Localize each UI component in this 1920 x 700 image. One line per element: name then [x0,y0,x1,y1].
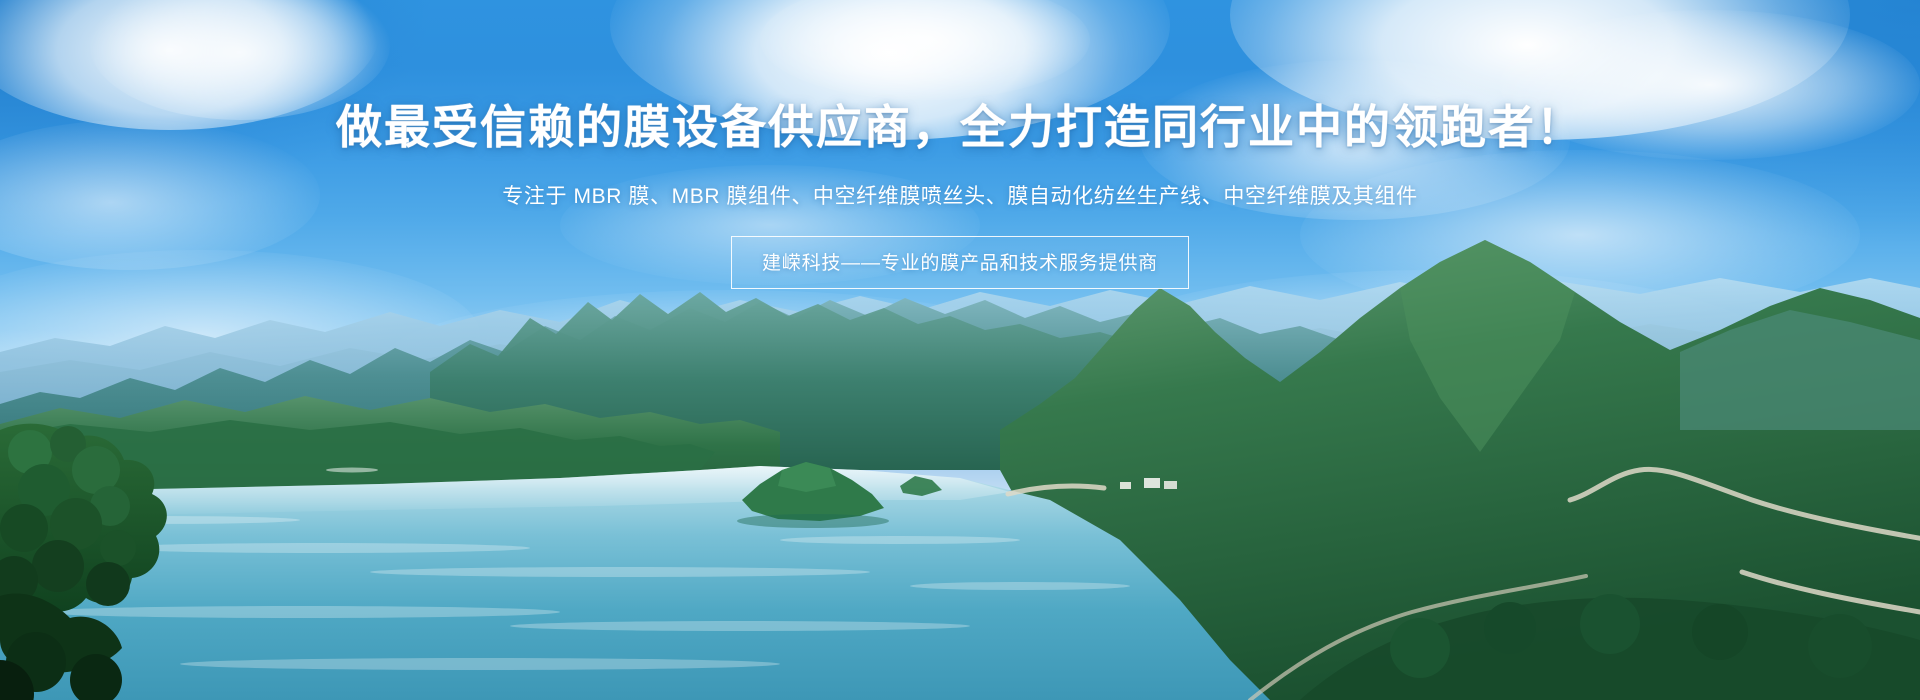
landscape-scene [0,0,1920,700]
banner-tagline-box[interactable]: 建嵘科技——专业的膜产品和技术服务提供商 [731,236,1189,289]
boat-wake [326,468,378,473]
hero-banner: 做最受信赖的膜设备供应商，全力打造同行业中的领跑者！ 专注于 MBR 膜、MBR… [0,0,1920,700]
